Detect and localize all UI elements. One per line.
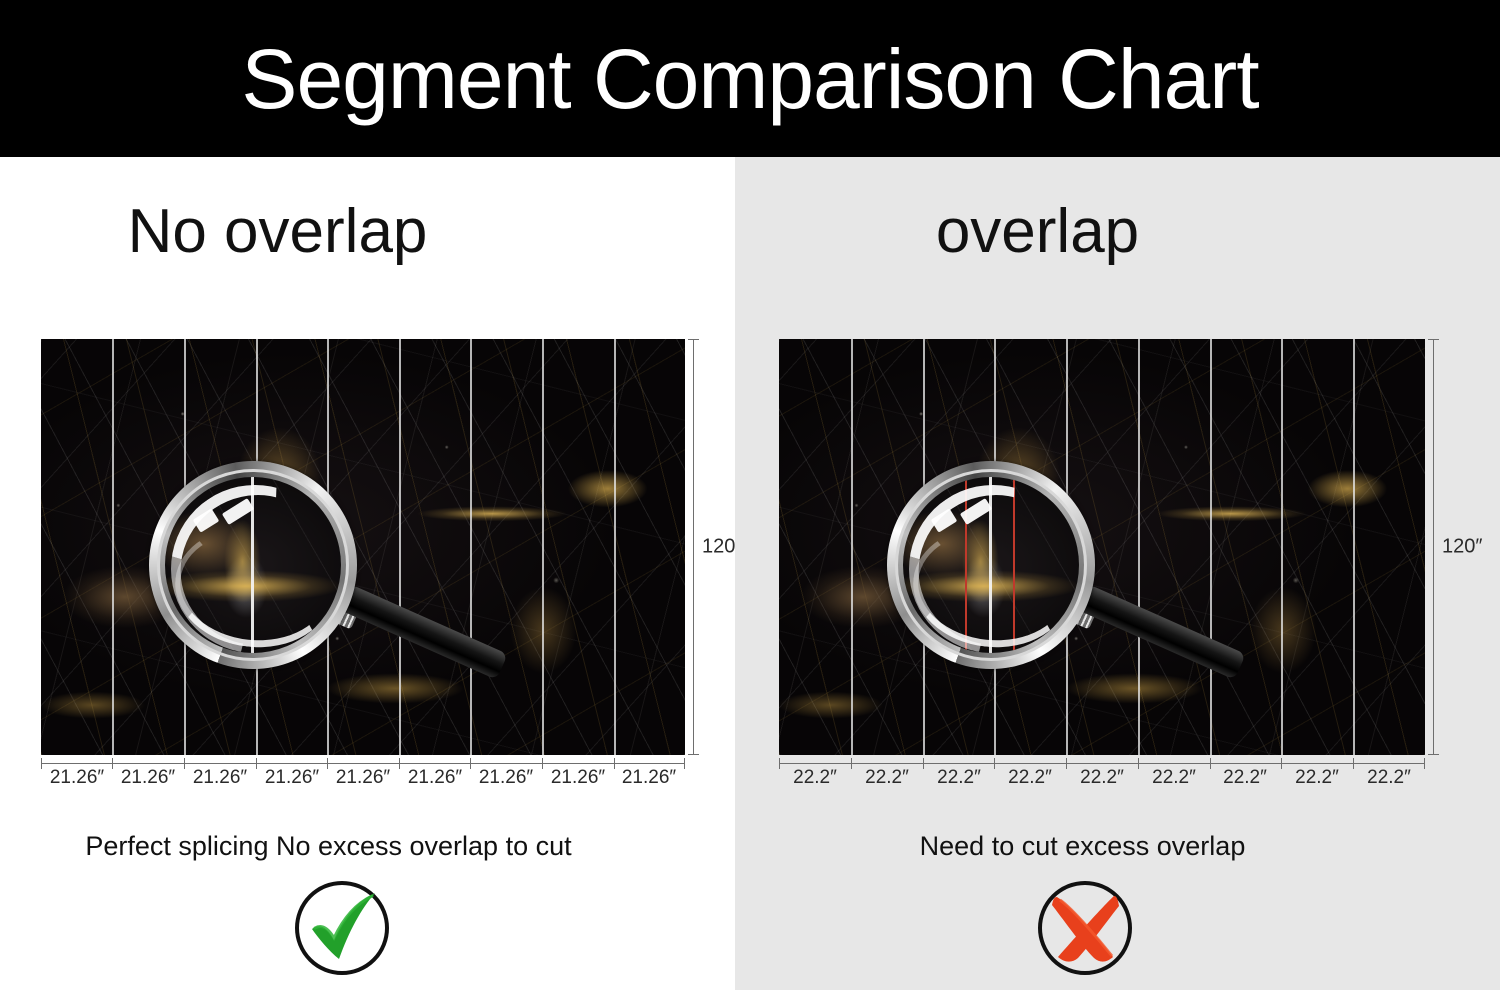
- height-dimension-left: 120″: [693, 339, 719, 755]
- segment-label: 21.26″: [479, 767, 533, 789]
- panel-caption-right: Need to cut excess overlap: [735, 833, 1500, 860]
- red-cross-mark-icon: [1030, 873, 1140, 983]
- segment-label: 21.26″: [50, 767, 104, 789]
- page-title: Segment Comparison Chart: [241, 37, 1258, 121]
- comparison-panels: No overlap: [0, 157, 1500, 990]
- result-icon-red-cross: [1030, 873, 1140, 983]
- segment-label: 22.2″: [1223, 767, 1267, 789]
- segment-label: 22.2″: [865, 767, 909, 789]
- segment-label: 22.2″: [793, 767, 837, 789]
- segment-label: 21.26″: [121, 767, 175, 789]
- segment-label: 21.26″: [551, 767, 605, 789]
- segment-label: 21.26″: [265, 767, 319, 789]
- segment-label: 22.2″: [1367, 767, 1411, 789]
- green-check-mark-icon: [287, 873, 397, 983]
- marble-texture-left: [41, 339, 685, 755]
- segment-label: 21.26″: [622, 767, 676, 789]
- panel-overlap: overlap: [735, 157, 1500, 990]
- segment-label: 21.26″: [336, 767, 390, 789]
- height-dimension-label-right: 120″: [1442, 536, 1482, 559]
- segment-label: 22.2″: [1080, 767, 1124, 789]
- marble-texture-right: [779, 339, 1425, 755]
- segment-label: 22.2″: [1152, 767, 1196, 789]
- mural-artwork-right: [779, 339, 1425, 755]
- segment-label: 22.2″: [937, 767, 981, 789]
- title-banner: Segment Comparison Chart: [0, 0, 1500, 157]
- segment-comparison-chart-page: Segment Comparison Chart No overlap: [0, 0, 1500, 990]
- segment-label: 21.26″: [193, 767, 247, 789]
- panel-heading-left: No overlap: [0, 201, 735, 263]
- height-dimension-right: 120″: [1433, 339, 1459, 755]
- segment-label: 22.2″: [1295, 767, 1339, 789]
- segment-label: 22.2″: [1008, 767, 1052, 789]
- panel-no-overlap: No overlap: [0, 157, 735, 990]
- panel-heading-right: overlap: [735, 201, 1500, 263]
- panel-caption-left: Perfect splicing No excess overlap to cu…: [0, 833, 735, 860]
- mural-artwork-left: [41, 339, 685, 755]
- segment-dimension-left: 21.26″ 21.26″ 21.26″ 21.26″ 21.26″ 21.26…: [41, 763, 685, 789]
- segment-label: 21.26″: [408, 767, 462, 789]
- result-icon-green-check: [287, 873, 397, 983]
- segment-dimension-right: 22.2″ 22.2″ 22.2″ 22.2″ 22.2″ 22.2″ 22.2…: [779, 763, 1425, 789]
